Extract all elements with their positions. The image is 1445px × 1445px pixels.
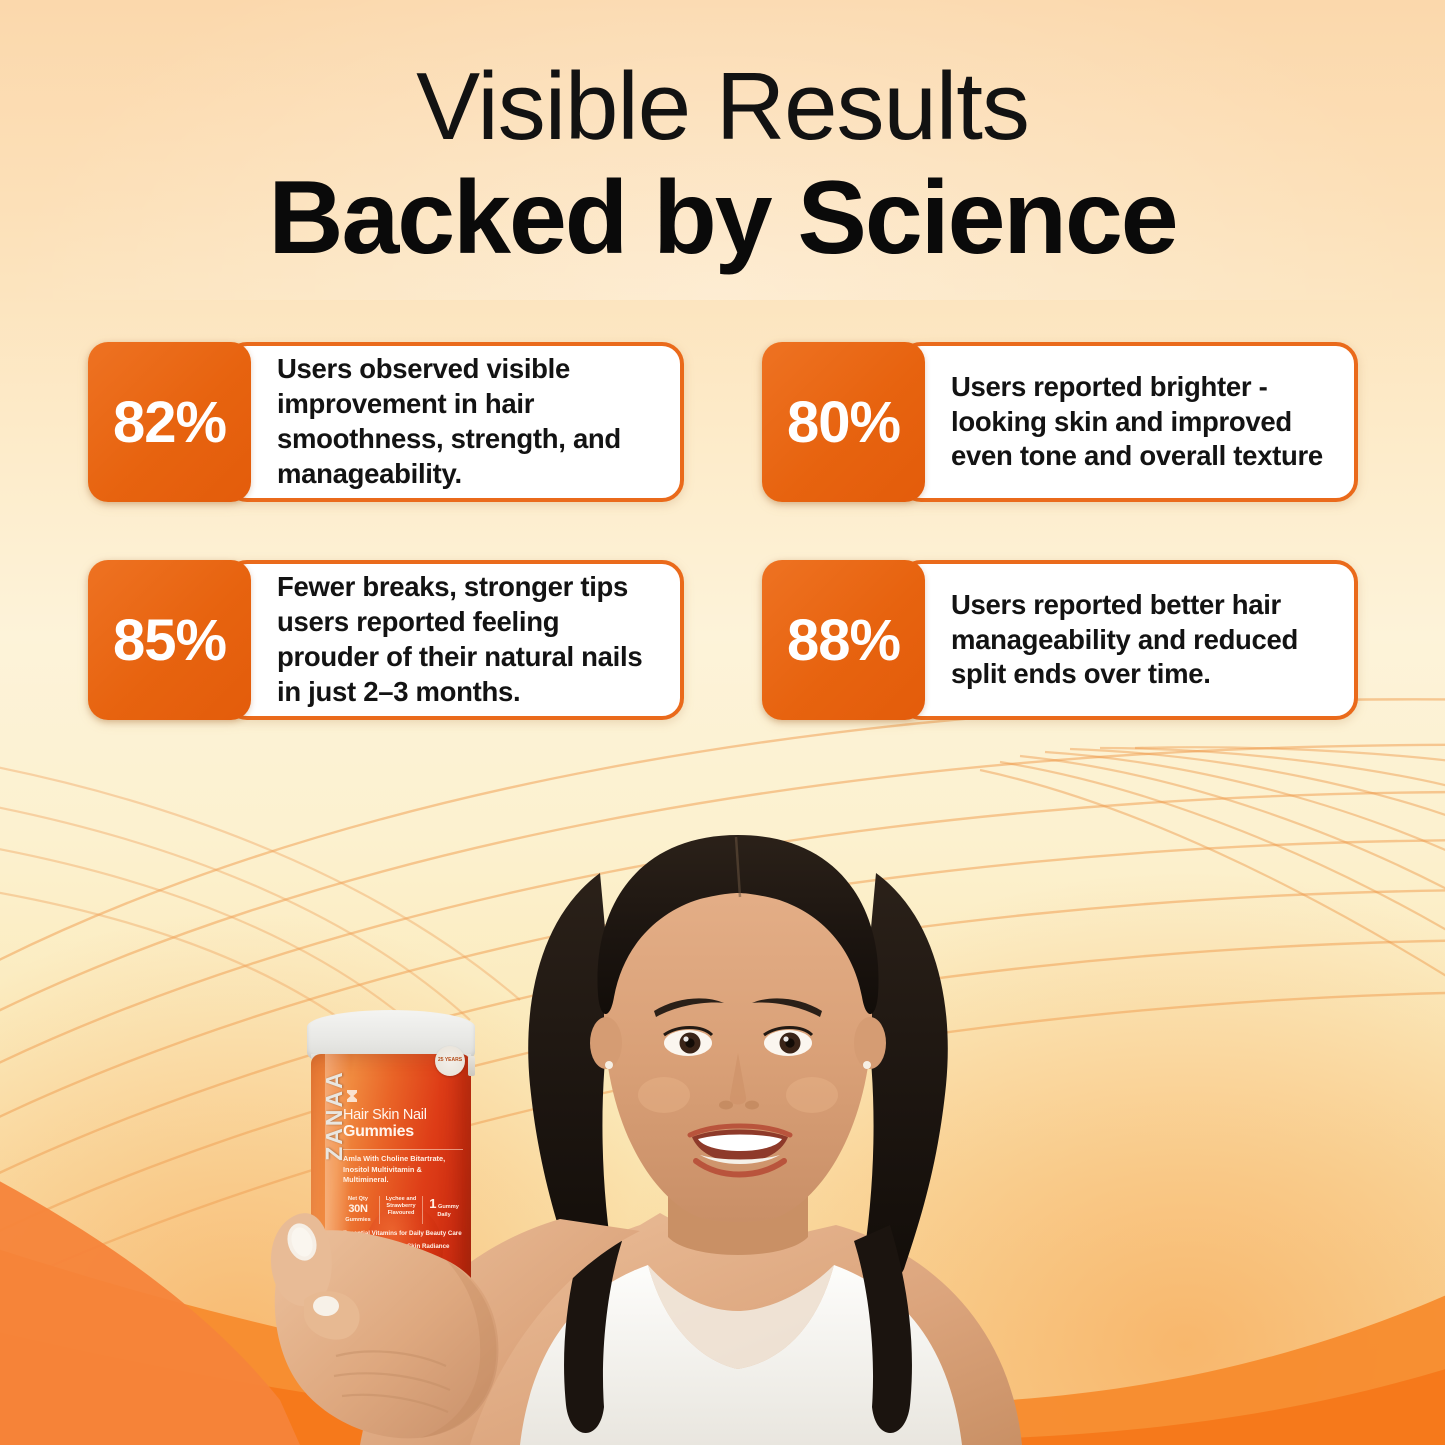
stat-description: Fewer breaks, stronger tips users report… (277, 570, 658, 710)
stat-description: Users reported brighter - looking skin a… (951, 370, 1332, 475)
stat-percent-badge: 80% (762, 342, 925, 502)
stat-percent-badge: 85% (88, 560, 251, 720)
stat-card-grid: 82% Users observed visible improvement i… (88, 342, 1358, 720)
stat-description: Users observed visible improvement in ha… (277, 352, 658, 492)
bottle-seal-tab (468, 1056, 475, 1076)
bottle-name-line-2: Gummies (343, 1123, 461, 1141)
model-photo (0, 685, 1445, 1445)
stat-card: 88% Users reported better hair manageabi… (762, 560, 1358, 720)
stat-percent-badge: 82% (88, 342, 251, 502)
stat-text-panel: Users reported brighter - looking skin a… (899, 342, 1358, 502)
stat-percent-badge: 88% (762, 560, 925, 720)
stat-text-panel: Fewer breaks, stronger tips users report… (225, 560, 684, 720)
stat-description: Users reported better hair manageability… (951, 588, 1332, 693)
stat-card: 85% Fewer breaks, stronger tips users re… (88, 560, 684, 720)
model-hand (250, 1180, 580, 1445)
bottle-seal-badge: 25 YEARS (435, 1046, 465, 1076)
hourglass-x-icon (344, 1088, 360, 1104)
stat-card: 82% Users observed visible improvement i… (88, 342, 684, 502)
headline-line-2: Backed by Science (0, 160, 1445, 276)
promo-creative: Visible Results Backed by Science 82% Us… (0, 0, 1445, 1445)
bottle-product-name: Hair Skin Nail Gummies (343, 1107, 461, 1141)
stat-text-panel: Users observed visible improvement in ha… (225, 342, 684, 502)
bottle-name-line-1: Hair Skin Nail (343, 1107, 461, 1123)
stat-card: 80% Users reported brighter - looking sk… (762, 342, 1358, 502)
stat-text-panel: Users reported better hair manageability… (899, 560, 1358, 720)
page-title: Visible Results Backed by Science (0, 58, 1445, 276)
headline-line-1: Visible Results (0, 58, 1445, 156)
